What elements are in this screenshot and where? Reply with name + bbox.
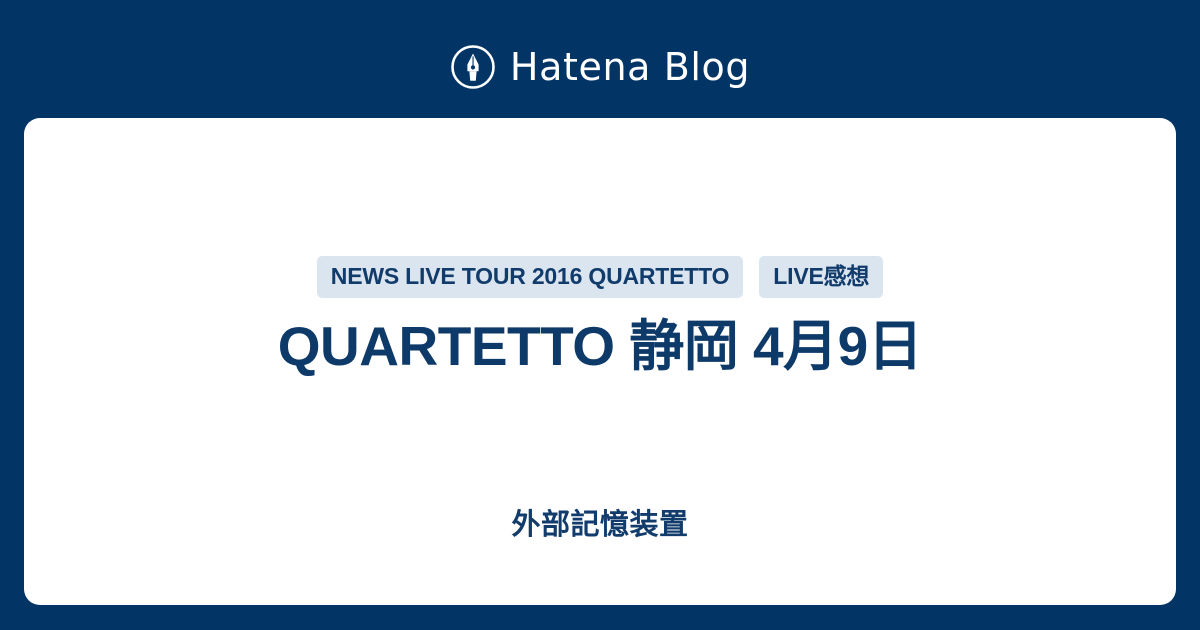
tag-badge-live-impression[interactable]: LIVE感想 [759,256,883,298]
tag-badge-tour[interactable]: NEWS LIVE TOUR 2016 QUARTETTO [317,256,743,298]
entry-card: NEWS LIVE TOUR 2016 QUARTETTO LIVE感想 QUA… [24,118,1176,605]
brand-name-text: Hatena Blog [510,48,750,86]
hatena-pen-nib-icon [450,44,496,90]
tag-list: NEWS LIVE TOUR 2016 QUARTETTO LIVE感想 [24,256,1176,298]
blog-name[interactable]: 外部記憶装置 [24,508,1176,543]
hatena-blog-brand[interactable]: Hatena Blog [0,38,1200,96]
entry-title[interactable]: QUARTETTO 静岡 4月9日 [24,315,1176,378]
